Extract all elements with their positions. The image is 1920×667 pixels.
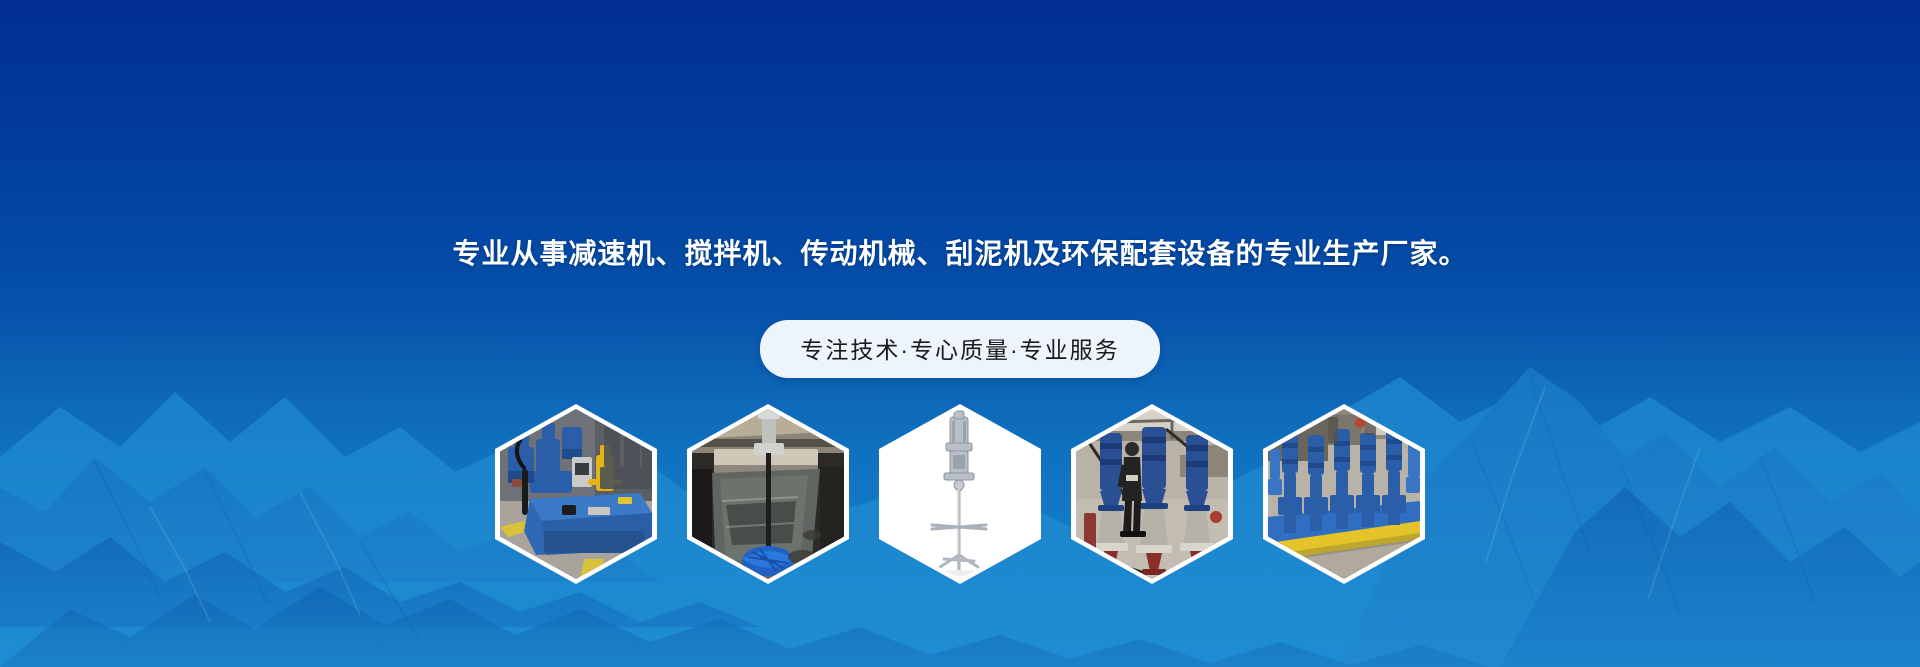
hero-banner: 专业从事减速机、搅拌机、传动机械、刮泥机及环保配套设备的专业生产厂家。 专注技术… — [0, 0, 1920, 667]
hexagon-photo-1-image — [500, 409, 652, 579]
hexagon-photo-3[interactable] — [879, 404, 1041, 584]
hexagon-photo-2[interactable] — [687, 404, 849, 584]
slogan-row: 专注技术·专心质量·专业服务 — [0, 320, 1920, 378]
hexagon-photo-4-image — [1076, 409, 1228, 579]
hexagon-photo-4[interactable] — [1071, 404, 1233, 584]
hexagon-gallery — [0, 404, 1920, 584]
hexagon-photo-2-image — [692, 409, 844, 579]
hexagon-photo-5-image — [1268, 409, 1420, 579]
hexagon-photo-3-image — [884, 409, 1036, 579]
page-title: 专业从事减速机、搅拌机、传动机械、刮泥机及环保配套设备的专业生产厂家。 — [0, 234, 1920, 274]
hexagon-photo-5[interactable] — [1263, 404, 1425, 584]
slogan-pill[interactable]: 专注技术·专心质量·专业服务 — [760, 320, 1159, 378]
hexagon-photo-1[interactable] — [495, 404, 657, 584]
